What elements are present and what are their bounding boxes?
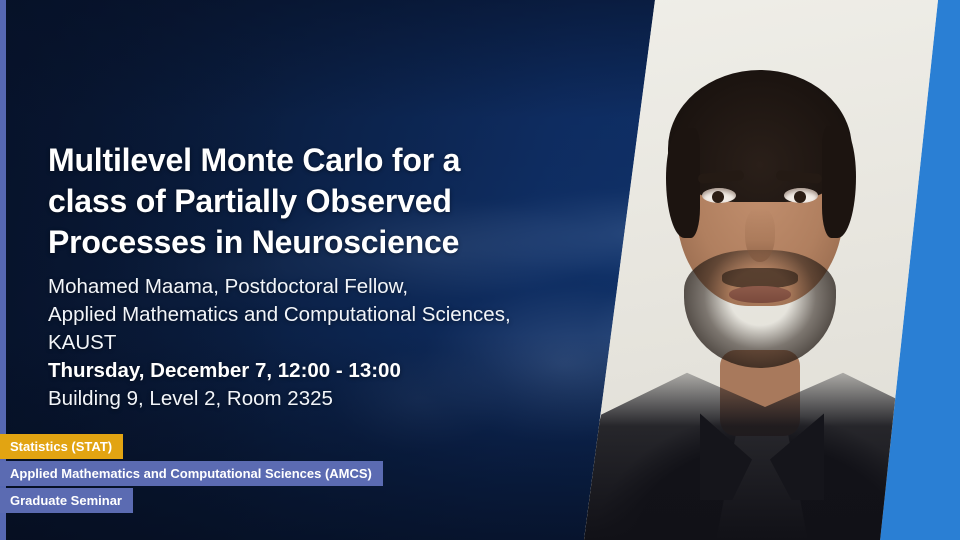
seminar-location: Building 9, Level 2, Room 2325 [48,385,558,413]
tag-badge-amcs[interactable]: Applied Mathematics and Computational Sc… [0,461,383,486]
portrait-pupil-left [712,191,724,203]
tag-badge-graduate-seminar[interactable]: Graduate Seminar [0,488,133,513]
speaker-name-role: Mohamed Maama, Postdoctoral Fellow, [48,273,558,301]
seminar-title-line-2: class of Partially Observed [48,181,548,222]
portrait-nose [745,208,775,262]
portrait-hair-side-left [666,128,700,238]
seminar-datetime: Thursday, December 7, 12:00 - 13:00 [48,357,558,385]
seminar-title-line-1: Multilevel Monte Carlo for a [48,140,548,181]
portrait-pupil-right [794,191,806,203]
speaker-institution: KAUST [48,329,558,357]
portrait-moustache [722,268,798,288]
seminar-title: Multilevel Monte Carlo for a class of Pa… [48,140,548,263]
speaker-affiliation: Applied Mathematics and Computational Sc… [48,301,558,329]
portrait-mouth [729,286,791,303]
seminar-details: Mohamed Maama, Postdoctoral Fellow, Appl… [48,273,558,413]
seminar-announcement-slide: Multilevel Monte Carlo for a class of Pa… [0,0,960,540]
seminar-title-line-3: Processes in Neuroscience [48,222,548,263]
tag-badge-list: Statistics (STAT) Applied Mathematics an… [0,434,383,515]
text-content-block: Multilevel Monte Carlo for a class of Pa… [48,0,568,540]
tag-badge-statistics[interactable]: Statistics (STAT) [0,434,123,459]
